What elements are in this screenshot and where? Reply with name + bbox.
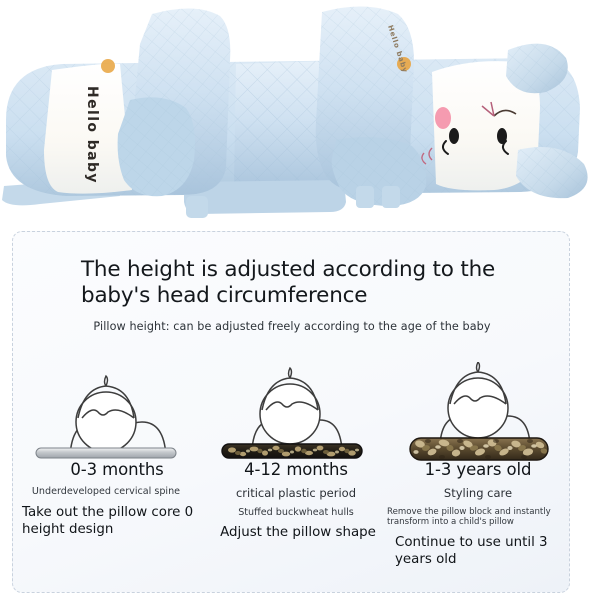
stage-panel-1-3-years: [385, 352, 570, 470]
product-photo: Hello baby: [0, 0, 600, 222]
stage-action: Adjust the pillow shape: [199, 525, 397, 541]
stage-note: critical plastic period Stuffed buckwhea…: [195, 486, 397, 519]
page-root: Hello baby: [0, 0, 600, 600]
page-title: The height is adjusted according to the …: [81, 257, 531, 309]
stage-age-label: 0-3 months: [19, 460, 215, 479]
illustration-flat-pillow: [26, 362, 186, 466]
stage-caption-1-3-years: 1-3 years old Styling care Remove the pi…: [385, 460, 570, 568]
stage-note-primary: Styling care: [385, 486, 570, 501]
page-subtitle: Pillow height: can be adjusted freely ac…: [13, 320, 570, 333]
illustration-buckwheat-pillow-low: [212, 362, 372, 466]
stage-action: Take out the pillow core 0 height design: [22, 505, 215, 538]
stage-note-secondary: Stuffed buckwheat hulls: [221, 507, 371, 519]
svg-text:Hello baby: Hello baby: [84, 86, 100, 184]
illustration-buckwheat-pillow-full: [398, 362, 558, 466]
stage-action: Continue to use until 3 years old: [395, 535, 570, 568]
stage-age-label: 1-3 years old: [385, 460, 570, 479]
stage-panels: [13, 352, 570, 470]
stage-caption-4-12-months: 4-12 months critical plastic period Stuf…: [201, 460, 397, 541]
height-adjustment-card: The height is adjusted according to the …: [12, 231, 570, 593]
stage-panel-4-12-months: [199, 352, 385, 470]
stage-note: Underdeveloped cervical spine: [31, 486, 181, 498]
stage-panel-0-3-months: [13, 352, 199, 470]
stage-age-label: 4-12 months: [195, 460, 397, 479]
stage-caption-0-3-months: 0-3 months Underdeveloped cervical spine…: [19, 460, 215, 538]
stage-note-primary: critical plastic period: [195, 486, 397, 501]
stage-note: Styling care Remove the pillow block and…: [385, 486, 570, 528]
stage-note-secondary: Remove the pillow block and instantly tr…: [387, 507, 570, 528]
